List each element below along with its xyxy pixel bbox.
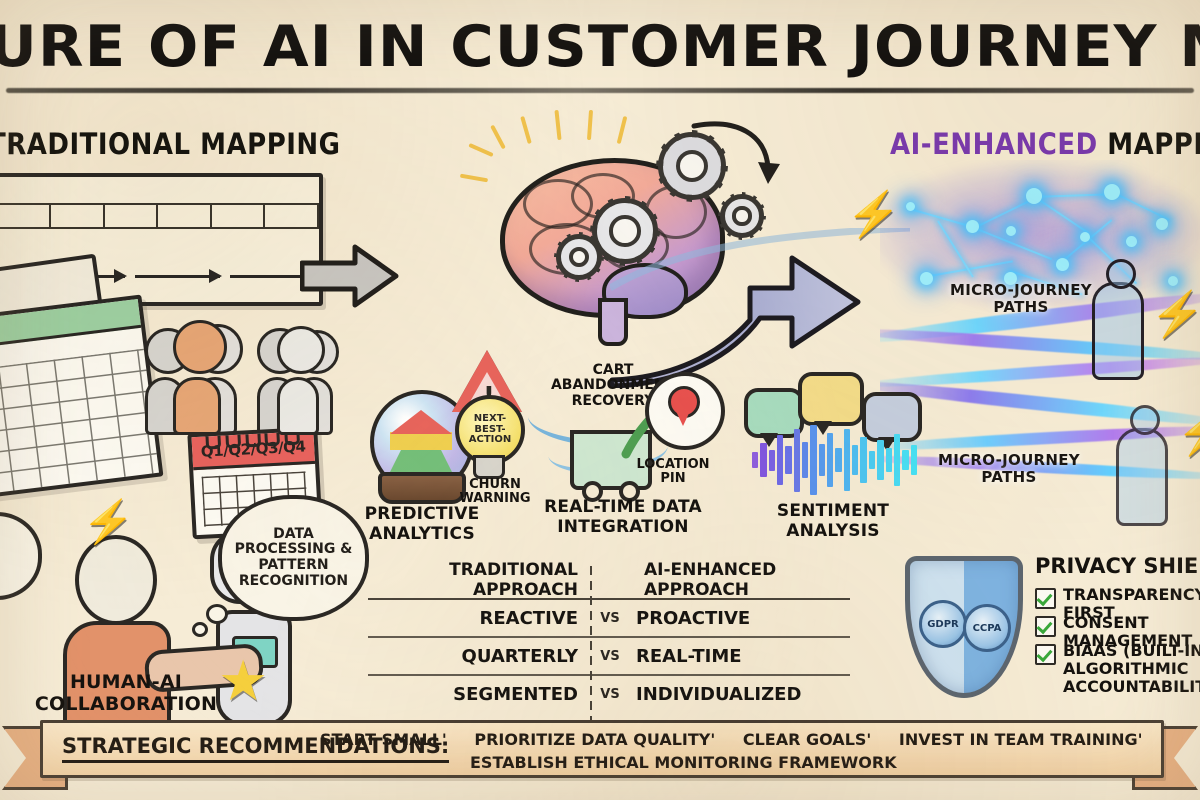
comparison-table: TRADITIONAL APPROACH AI-ENHANCED APPROAC… xyxy=(368,562,850,712)
comparison-row: REACTIVE VS PROACTIVE xyxy=(368,600,850,636)
title-bar: THE FUTURE OF AI IN CUSTOMER JOURNEY MAP… xyxy=(0,12,1200,84)
gdpr-badge: GDPR xyxy=(919,600,967,648)
thought-bubble-dot-large xyxy=(206,604,228,624)
banner-item: PRIORITIZE DATA QUALITY' xyxy=(474,730,715,749)
thought-bubble: DATA PROCESSING & PATTERN RECOGNITION xyxy=(218,495,369,621)
next-best-action-label: NEXT- BEST- ACTION xyxy=(469,414,512,446)
comparison-cell-left: QUARTERLY xyxy=(368,646,592,667)
comparison-cell-left: REACTIVE xyxy=(368,608,592,629)
title-underline-rule xyxy=(6,88,1194,93)
capability-label-predictive-analytics: PREDICTIVE ANALYTICS xyxy=(352,505,492,544)
comparison-cell-right: REAL-TIME xyxy=(628,646,850,667)
banner-items-row-1: START SMALL' PRIORITIZE DATA QUALITY' CL… xyxy=(320,728,1140,751)
micro-journey-label-bottom: MICRO-JOURNEY PATHS xyxy=(934,452,1084,485)
privacy-item-label: BIAAS (BUILT-IN-ALGORITHMIC ACCOUNTABILI… xyxy=(1063,642,1200,696)
lightbulb-base xyxy=(473,455,505,479)
customer-silhouette-top xyxy=(1092,282,1144,380)
privacy-shield-section: GDPR CCPA PRIVACY SHIELD TRANSPARENCY FI… xyxy=(905,548,1200,708)
banner-item: CLEAR GOALS' xyxy=(743,730,871,749)
checkbox-icon xyxy=(1035,588,1056,609)
capability-label-realtime-data: REAL-TIME DATA INTEGRATION xyxy=(528,498,718,537)
lightning-bolt-icon-right: ⚡ xyxy=(1176,406,1200,458)
page-title: THE FUTURE OF AI IN CUSTOMER JOURNEY MAP… xyxy=(0,14,1200,80)
comparison-header-right: AI-ENHANCED APPROACH xyxy=(632,560,850,600)
privacy-item: BIAAS (BUILT-IN-ALGORITHMIC ACCOUNTABILI… xyxy=(1035,642,1200,696)
panel-header-traditional: TRADITIONAL MAPPING xyxy=(0,128,341,162)
banner-items-row-2: ESTABLISH ETHICAL MONITORING FRAMEWORK xyxy=(320,751,1140,774)
comparison-row: SEGMENTED VS INDIVIDUALIZED xyxy=(368,676,850,712)
location-pin-label: LOCATION PIN xyxy=(618,458,728,487)
checkbox-icon xyxy=(1035,616,1056,637)
location-pin-icon xyxy=(668,386,700,418)
comparison-header-left: TRADITIONAL APPROACH xyxy=(368,560,596,600)
checkbox-icon xyxy=(1035,644,1056,665)
process-loop-arrow-icon xyxy=(690,118,780,190)
customer-silhouette-bottom xyxy=(1116,428,1168,526)
lightning-bolt-icon-left: ⚡ xyxy=(846,188,901,240)
comparison-cell-right: PROACTIVE xyxy=(628,608,850,629)
comparison-row: QUARTERLY VS REAL-TIME xyxy=(368,638,850,674)
traditional-mapping-illustration: Q1/Q2/Q3/Q4 xyxy=(0,165,330,525)
comparison-cell-right: INDIVIDUALIZED xyxy=(628,684,850,705)
panel-header-accent: AI-ENHANCED xyxy=(890,128,1098,162)
comparison-rule xyxy=(368,674,850,676)
comparison-divider xyxy=(590,566,592,732)
strategic-recommendations-banner: STRATEGIC RECOMMENDATIONS: START SMALL' … xyxy=(0,718,1200,788)
comparison-vs-label: VS xyxy=(592,687,628,702)
panel-header-rest: MAPPING xyxy=(1098,128,1200,162)
banner-item: ESTABLISH ETHICAL MONITORING FRAMEWORK xyxy=(470,753,897,772)
lightning-bolt-icon-mid: ⚡ xyxy=(1150,288,1200,340)
audio-waveform-icon xyxy=(752,425,917,495)
banner-item: START SMALL' xyxy=(320,730,447,749)
thought-bubble-dot-small xyxy=(192,622,208,637)
lightning-bolt-icon: ⚡ xyxy=(82,498,134,547)
banner-items: START SMALL' PRIORITIZE DATA QUALITY' CL… xyxy=(320,728,1140,774)
chat-bubble-negative-icon xyxy=(798,372,864,426)
gear-icon-small xyxy=(556,234,602,280)
comparison-cell-left: SEGMENTED xyxy=(368,684,592,705)
comparison-header-row: TRADITIONAL APPROACH AI-ENHANCED APPROAC… xyxy=(368,562,850,600)
ccpa-badge: CCPA xyxy=(963,604,1011,652)
comparison-vs-label: VS xyxy=(592,611,628,626)
panel-header-ai-enhanced: AI-ENHANCED MAPPING xyxy=(890,128,1200,162)
thought-bubble-text: DATA PROCESSING & PATTERN RECOGNITION xyxy=(226,527,361,590)
collaboration-label: HUMAN-AI COLLABORATION xyxy=(0,672,266,716)
whiteboard-columns xyxy=(0,203,319,229)
banner-item: INVEST IN TEAM TRAINING' xyxy=(899,730,1143,749)
customer-segments-icon xyxy=(145,315,330,435)
human-figure-icon xyxy=(75,535,171,749)
transition-arrow-icon xyxy=(300,243,400,309)
spreadsheet-icon xyxy=(0,295,163,499)
capability-label-sentiment-analysis: SENTIMENT ANALYSIS xyxy=(748,502,918,541)
privacy-shield-title: PRIVACY SHIELD xyxy=(1035,554,1200,578)
micro-journey-label-top: MICRO-JOURNEY PATHS xyxy=(946,282,1096,315)
comparison-vs-label: VS xyxy=(592,649,628,664)
comparison-rule xyxy=(368,636,850,638)
